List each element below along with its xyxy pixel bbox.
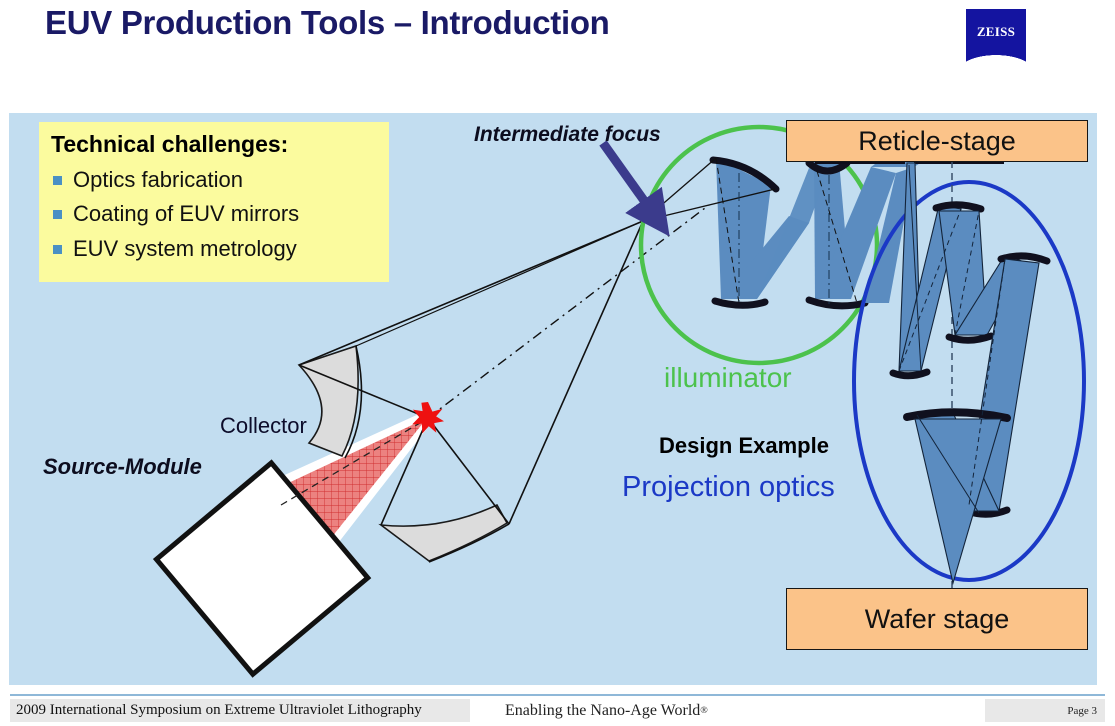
projection-optics-label: Projection optics	[622, 471, 835, 504]
tagline-text: Enabling the Nano-Age World	[505, 702, 700, 720]
footer-conference: 2009 International Symposium on Extreme …	[10, 699, 470, 722]
challenges-list: Optics fabrication Coating of EUV mirror…	[51, 165, 299, 268]
technical-challenges-box: Technical challenges: Optics fabrication…	[39, 122, 389, 282]
wafer-stage-box: Wafer stage	[786, 588, 1088, 650]
square-bullet-icon	[53, 245, 62, 254]
source-module-label: Source-Module	[43, 454, 202, 480]
challenges-heading: Technical challenges:	[51, 131, 288, 158]
challenge-text: EUV system metrology	[73, 236, 297, 261]
challenge-text: Coating of EUV mirrors	[73, 201, 299, 226]
page-title: EUV Production Tools – Introduction	[45, 4, 610, 42]
footer-page-number: Page 3	[985, 699, 1105, 722]
list-item: Optics fabrication	[51, 165, 299, 195]
list-item: EUV system metrology	[51, 234, 299, 264]
registered-mark-icon: ®	[700, 705, 708, 716]
intermediate-focus-label: Intermediate focus	[474, 123, 661, 147]
zeiss-logo: ZEISS	[966, 9, 1026, 67]
diagram-panel: Technical challenges: Optics fabrication…	[9, 113, 1097, 685]
design-example-label: Design Example	[659, 433, 829, 459]
slide-root: EUV Production Tools – Introduction ZEIS…	[0, 0, 1115, 726]
square-bullet-icon	[53, 176, 62, 185]
slide-footer: 2009 International Symposium on Extreme …	[0, 694, 1115, 726]
collector-label: Collector	[220, 413, 307, 439]
footer-tagline: Enabling the Nano-Age World®	[505, 699, 805, 722]
square-bullet-icon	[53, 210, 62, 219]
challenge-text: Optics fabrication	[73, 167, 243, 192]
reticle-stage-box: Reticle-stage	[786, 120, 1088, 162]
footer-divider	[10, 694, 1105, 696]
illuminator-label: illuminator	[664, 362, 792, 394]
logo-wordmark: ZEISS	[966, 24, 1026, 40]
list-item: Coating of EUV mirrors	[51, 199, 299, 229]
